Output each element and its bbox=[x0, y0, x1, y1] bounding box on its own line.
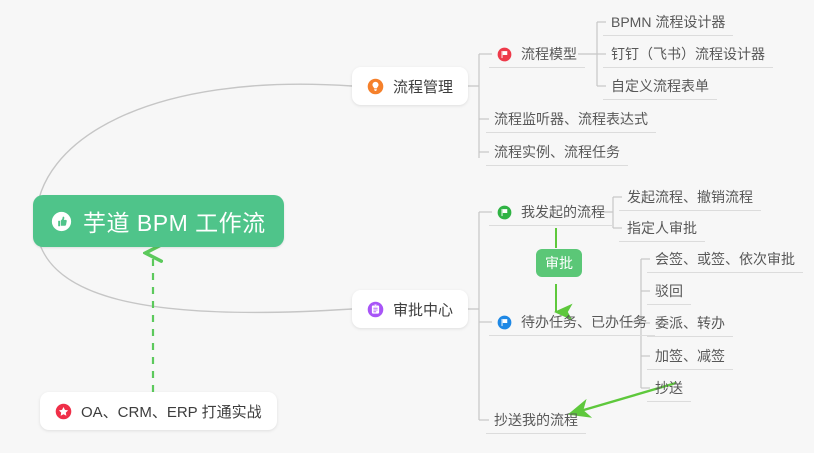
node-integration-practice[interactable]: OA、CRM、ERP 打通实战 bbox=[40, 392, 277, 430]
node-label-assignee-approval: 指定人审批 bbox=[627, 218, 697, 238]
mindmap-canvas: 芋道 BPM 工作流 流程管理 流程模型 BPMN 流程设计器 钉钉（飞书）流 bbox=[0, 0, 814, 453]
flag-icon bbox=[497, 47, 512, 62]
node-label-add-remove-sign: 加签、减签 bbox=[655, 346, 725, 366]
node-label-start-cancel: 发起流程、撤销流程 bbox=[627, 187, 753, 207]
tag-label-approval: 审批 bbox=[545, 253, 573, 273]
node-label-dingtalk-feishu-designer: 钉钉（飞书）流程设计器 bbox=[611, 44, 765, 64]
node-label-countersign: 会签、或签、依次审批 bbox=[655, 249, 795, 269]
node-delegate-transfer[interactable]: 委派、转办 bbox=[647, 310, 733, 337]
flag-icon bbox=[497, 205, 512, 220]
branch-node-process-management[interactable]: 流程管理 bbox=[352, 67, 468, 105]
node-label-cc-to-me: 抄送我的流程 bbox=[494, 410, 578, 430]
star-icon bbox=[55, 403, 72, 420]
node-countersign[interactable]: 会签、或签、依次审批 bbox=[647, 246, 803, 273]
node-instance-task[interactable]: 流程实例、流程任务 bbox=[486, 139, 628, 166]
node-cc-to-me[interactable]: 抄送我的流程 bbox=[486, 407, 586, 434]
node-label-todo-done: 待办任务、已办任务 bbox=[521, 312, 647, 332]
node-label-bpmn-designer: BPMN 流程设计器 bbox=[611, 12, 725, 32]
node-todo-done[interactable]: 待办任务、已办任务 bbox=[489, 309, 655, 336]
node-my-initiated[interactable]: 我发起的流程 bbox=[489, 199, 613, 226]
node-add-remove-sign[interactable]: 加签、减签 bbox=[647, 343, 733, 370]
node-custom-process-form[interactable]: 自定义流程表单 bbox=[603, 73, 717, 100]
node-label-cc: 抄送 bbox=[655, 378, 683, 398]
node-start-cancel[interactable]: 发起流程、撤销流程 bbox=[619, 184, 761, 211]
tag-approval[interactable]: 审批 bbox=[536, 249, 582, 277]
clipboard-icon bbox=[367, 301, 384, 318]
node-label-delegate-transfer: 委派、转办 bbox=[655, 313, 725, 333]
node-label-my-initiated: 我发起的流程 bbox=[521, 202, 605, 222]
node-label-listener-expression: 流程监听器、流程表达式 bbox=[494, 109, 648, 129]
root-label: 芋道 BPM 工作流 bbox=[83, 204, 266, 238]
node-reject[interactable]: 驳回 bbox=[647, 278, 691, 305]
node-process-model[interactable]: 流程模型 bbox=[489, 41, 585, 68]
flag-icon bbox=[497, 315, 512, 330]
node-bpmn-designer[interactable]: BPMN 流程设计器 bbox=[603, 9, 733, 36]
lightbulb-icon bbox=[367, 78, 384, 95]
node-label-custom-process-form: 自定义流程表单 bbox=[611, 76, 709, 96]
branch-label-approval-center: 审批中心 bbox=[393, 299, 453, 320]
branch-label-process-management: 流程管理 bbox=[393, 76, 453, 97]
node-label-process-model: 流程模型 bbox=[521, 44, 577, 64]
branch-node-approval-center[interactable]: 审批中心 bbox=[352, 290, 468, 328]
node-listener-expression[interactable]: 流程监听器、流程表达式 bbox=[486, 106, 656, 133]
root-node[interactable]: 芋道 BPM 工作流 bbox=[33, 195, 284, 247]
node-cc[interactable]: 抄送 bbox=[647, 375, 691, 402]
node-label-integration-practice: OA、CRM、ERP 打通实战 bbox=[81, 401, 262, 422]
node-assignee-approval[interactable]: 指定人审批 bbox=[619, 215, 705, 242]
thumbs-up-icon bbox=[51, 211, 72, 232]
node-label-instance-task: 流程实例、流程任务 bbox=[494, 142, 620, 162]
node-label-reject: 驳回 bbox=[655, 281, 683, 301]
node-dingtalk-feishu-designer[interactable]: 钉钉（飞书）流程设计器 bbox=[603, 41, 773, 68]
